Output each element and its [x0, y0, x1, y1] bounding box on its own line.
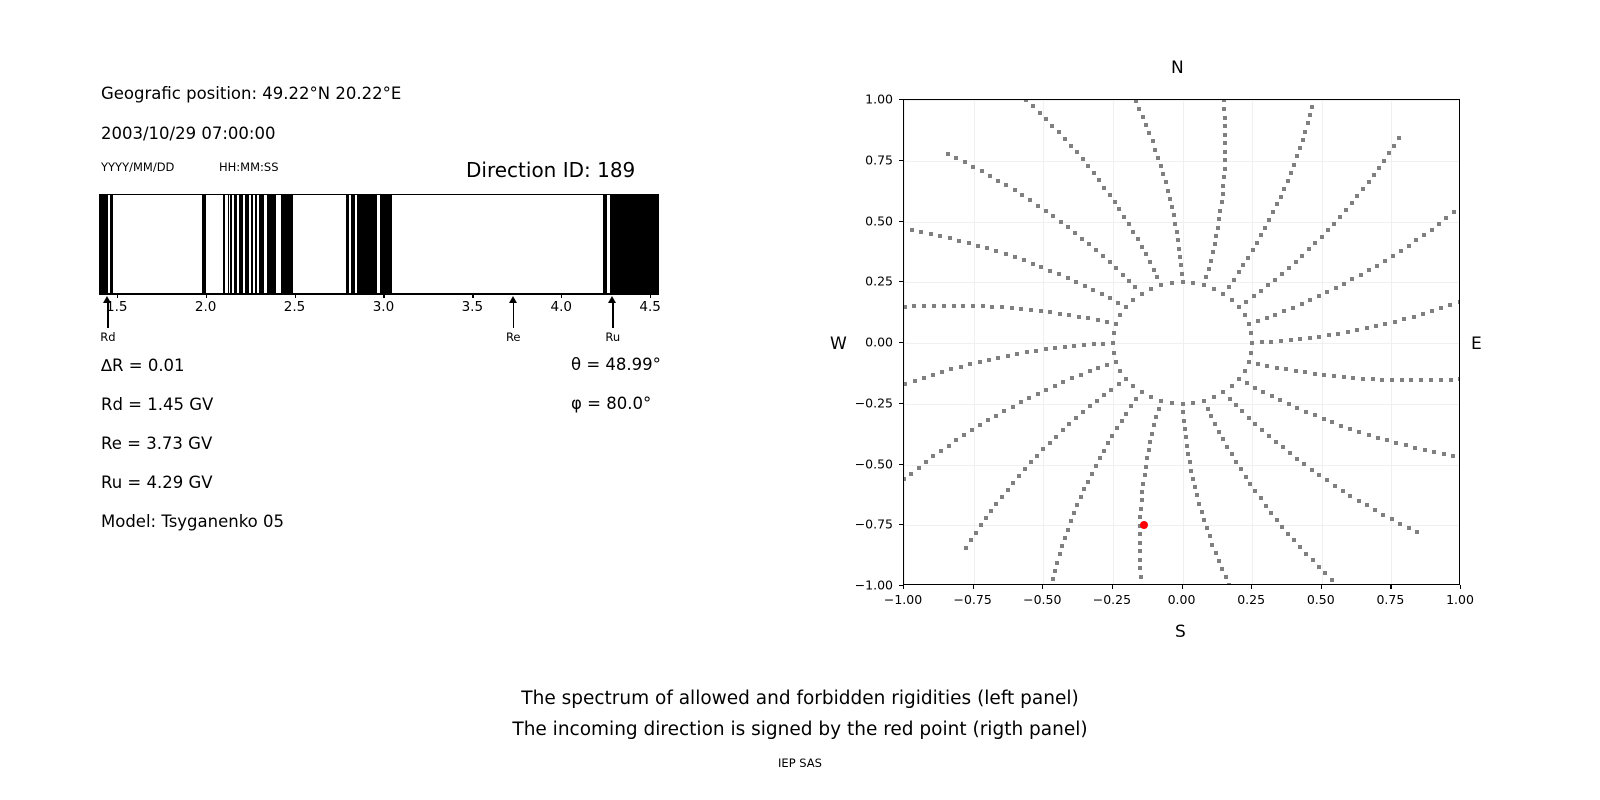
direction-point	[1117, 207, 1121, 211]
direction-point	[1334, 286, 1338, 290]
x-axis-tick	[1251, 585, 1252, 589]
direction-point	[1367, 180, 1371, 184]
direction-point	[1452, 210, 1456, 214]
direction-point	[1223, 158, 1227, 162]
direction-point	[1292, 163, 1296, 167]
direction-point	[1000, 495, 1004, 499]
direction-point	[1281, 445, 1285, 449]
direction-point	[1151, 139, 1155, 143]
direction-point	[1252, 294, 1256, 298]
direction-point	[1332, 374, 1336, 378]
direction-point	[1325, 478, 1329, 482]
direction-point	[978, 360, 982, 364]
direction-point	[1307, 247, 1311, 251]
direction-scatter-plot	[903, 99, 1460, 585]
direction-point	[1096, 318, 1100, 322]
direction-point	[1060, 544, 1064, 548]
direction-point	[903, 305, 907, 309]
direction-point	[1069, 144, 1073, 148]
direction-point	[1114, 360, 1118, 364]
direction-point	[1205, 526, 1209, 530]
param-rd: Rd = 1.45 GV	[101, 395, 213, 414]
forbidden-band	[223, 195, 225, 293]
direction-point	[1330, 578, 1334, 582]
direction-point	[1137, 107, 1141, 111]
param-phi: φ = 80.0°	[571, 394, 651, 413]
direction-point	[1259, 233, 1263, 237]
direction-point	[1273, 313, 1277, 317]
direction-point	[1390, 517, 1394, 521]
direction-point	[1136, 237, 1140, 241]
direction-point	[1181, 402, 1185, 406]
direction-point	[1044, 388, 1048, 392]
direction-point	[1451, 454, 1455, 458]
direction-point	[1058, 312, 1062, 316]
x-axis-tick	[1390, 585, 1391, 589]
direction-point	[1448, 303, 1452, 307]
direction-point	[1075, 150, 1079, 154]
rigidity-tick-label: 4.0	[550, 299, 571, 315]
direction-point	[1325, 290, 1329, 294]
direction-point	[1224, 575, 1228, 579]
direction-point	[1282, 309, 1286, 313]
direction-point	[1275, 518, 1279, 522]
direction-point	[1287, 266, 1291, 270]
marker-label-ru: Ru	[605, 330, 620, 344]
direction-point	[1209, 259, 1213, 263]
direction-point	[1247, 360, 1251, 364]
direction-point	[1380, 378, 1384, 382]
direction-point	[1166, 189, 1170, 193]
direction-point	[1308, 113, 1312, 117]
direction-point	[1227, 583, 1231, 585]
direction-point	[1322, 417, 1326, 421]
direction-point	[1414, 238, 1418, 242]
direction-point	[1317, 335, 1321, 339]
rigidity-tick-label: 2.0	[195, 299, 216, 315]
x-axis-tick	[1460, 585, 1461, 589]
x-axis-tick-label: −0.50	[1023, 592, 1061, 607]
direction-point	[1112, 351, 1116, 355]
direction-point	[1152, 423, 1156, 427]
direction-point	[1138, 532, 1142, 536]
direction-point	[1304, 552, 1308, 556]
rigidity-tick	[650, 294, 651, 298]
direction-point	[1184, 435, 1188, 439]
y-axis-tick-label: 0.50	[845, 213, 893, 228]
direction-point	[946, 152, 950, 156]
gridline-horizontal	[904, 161, 1459, 162]
direction-point	[969, 538, 973, 542]
direction-point	[1357, 430, 1361, 434]
rigidity-axis: 1.52.02.53.03.54.04.5RdReRu	[99, 294, 659, 304]
direction-point	[1237, 270, 1241, 274]
direction-point	[1140, 292, 1144, 296]
direction-point	[1295, 457, 1299, 461]
direction-point	[1220, 200, 1224, 204]
direction-point	[1367, 268, 1371, 272]
rigidity-tick-label: 4.5	[639, 299, 660, 315]
direction-point	[1124, 305, 1128, 309]
direction-point	[1310, 468, 1314, 472]
direction-point	[1217, 430, 1221, 434]
direction-point	[1449, 378, 1453, 382]
direction-point	[1141, 115, 1145, 119]
y-axis-tick-label: −0.50	[845, 456, 893, 471]
x-axis-tick-label: 0.75	[1376, 592, 1404, 607]
direction-point	[1081, 410, 1085, 414]
direction-point	[1102, 186, 1106, 190]
direction-point	[952, 304, 956, 308]
y-axis-tick	[899, 342, 903, 343]
direction-point	[1080, 237, 1084, 241]
direction-point	[1243, 313, 1247, 317]
direction-point	[990, 305, 994, 309]
direction-point	[1419, 378, 1423, 382]
gridline-horizontal	[904, 465, 1459, 466]
y-axis-tick-label: −0.25	[845, 395, 893, 410]
direction-point	[1111, 341, 1115, 345]
direction-id-label: Direction ID: 189	[466, 158, 635, 182]
forbidden-band	[234, 195, 237, 293]
direction-point	[1350, 201, 1354, 205]
direction-point	[1019, 307, 1023, 311]
direction-point	[1391, 254, 1395, 258]
direction-point	[986, 418, 990, 422]
direction-point	[1070, 376, 1074, 380]
direction-point	[1108, 260, 1112, 264]
direction-point	[1350, 277, 1354, 281]
direction-point	[1039, 309, 1043, 313]
direction-point	[1152, 268, 1156, 272]
direction-point	[922, 304, 926, 308]
forbidden-band	[251, 195, 253, 293]
direction-point	[1357, 499, 1361, 503]
direction-point	[1147, 448, 1151, 452]
forbidden-band	[603, 195, 607, 293]
direction-point	[980, 169, 984, 173]
direction-point	[1239, 467, 1243, 471]
direction-point	[1320, 235, 1324, 239]
direction-point	[1147, 131, 1151, 135]
gridline-vertical	[1043, 100, 1044, 584]
direction-point	[1074, 280, 1078, 284]
direction-point	[1193, 485, 1197, 489]
direction-point	[1259, 289, 1263, 293]
direction-point	[1106, 441, 1110, 445]
direction-point	[1269, 340, 1273, 344]
direction-point	[988, 174, 992, 178]
forbidden-band	[239, 195, 243, 293]
direction-point	[1175, 230, 1179, 234]
direction-point	[1006, 354, 1010, 358]
direction-point	[985, 246, 989, 250]
direction-point	[913, 379, 917, 383]
direction-point	[1216, 226, 1220, 230]
marker-label-re: Re	[506, 330, 521, 344]
direction-point	[1140, 245, 1144, 249]
direction-point	[1383, 259, 1387, 263]
direction-point	[1057, 272, 1061, 276]
direction-point	[1246, 256, 1250, 260]
direction-point	[1131, 384, 1135, 388]
rigidity-spectrum-bar	[99, 194, 659, 294]
direction-point	[1067, 313, 1071, 317]
direction-point	[994, 414, 998, 418]
direction-point	[1031, 262, 1035, 266]
direction-point	[1404, 443, 1408, 447]
direction-point	[1279, 339, 1283, 343]
direction-point	[1000, 305, 1004, 309]
direction-point	[1278, 398, 1282, 402]
direction-point	[1376, 436, 1380, 440]
rigidity-tick	[561, 294, 562, 298]
direction-point	[1180, 272, 1184, 276]
direction-point	[1197, 502, 1201, 506]
y-axis-tick-label: 0.75	[845, 152, 893, 167]
rigidity-tick	[472, 294, 473, 298]
direction-point	[1295, 154, 1299, 158]
direction-point	[1333, 484, 1337, 488]
direction-point	[1381, 513, 1385, 517]
direction-point	[1108, 296, 1112, 300]
direction-point	[1183, 427, 1187, 431]
marker-arrow-ru	[606, 296, 620, 328]
direction-point	[964, 546, 968, 550]
x-axis-tick	[1112, 585, 1113, 589]
direction-point	[1213, 242, 1217, 246]
direction-point	[1304, 410, 1308, 414]
forbidden-band	[230, 195, 231, 293]
direction-point	[949, 367, 953, 371]
y-axis-tick	[899, 524, 903, 525]
direction-point	[1221, 192, 1225, 196]
y-axis-tick-label: −0.75	[845, 517, 893, 532]
y-axis-tick	[899, 403, 903, 404]
direction-point	[1327, 333, 1331, 337]
direction-point	[954, 156, 958, 160]
direction-point	[1061, 428, 1065, 432]
direction-point	[1377, 166, 1381, 170]
direction-point	[1409, 378, 1413, 382]
direction-point	[1122, 215, 1126, 219]
direction-point	[962, 433, 966, 437]
direction-point	[1298, 146, 1302, 150]
direction-point	[1023, 467, 1027, 471]
direction-point	[1279, 195, 1283, 199]
direction-point	[957, 239, 961, 243]
x-axis-tick	[903, 585, 904, 589]
direction-point	[978, 423, 982, 427]
direction-point	[1230, 384, 1234, 388]
direction-point	[1149, 395, 1153, 399]
direction-point	[1413, 446, 1417, 450]
direction-point	[1048, 441, 1052, 445]
direction-point	[1050, 124, 1054, 128]
direction-point	[1029, 460, 1033, 464]
direction-point	[1265, 316, 1269, 320]
time-format-hint: HH:MM:SS	[219, 160, 279, 174]
direction-point	[1075, 503, 1079, 507]
direction-point	[996, 356, 1000, 360]
direction-point	[1101, 254, 1105, 258]
x-axis-tick-label: 0.25	[1237, 592, 1265, 607]
direction-point	[1025, 350, 1029, 354]
direction-point	[1177, 247, 1181, 251]
direction-point	[1092, 171, 1096, 175]
direction-point	[1202, 283, 1206, 287]
direction-point	[1061, 380, 1065, 384]
direction-point	[1267, 434, 1271, 438]
direction-point	[931, 454, 935, 458]
direction-point	[1096, 366, 1100, 370]
direction-point	[932, 304, 936, 308]
direction-point	[1374, 324, 1378, 328]
direction-point	[1113, 200, 1117, 204]
direction-point	[1022, 258, 1026, 262]
direction-point	[1202, 518, 1206, 522]
direction-point	[1118, 369, 1122, 373]
direction-point	[1053, 346, 1057, 350]
direction-point	[1220, 567, 1224, 571]
direction-point	[1034, 349, 1038, 353]
direction-point	[1232, 278, 1236, 282]
direction-point	[1101, 342, 1105, 346]
forbidden-band	[245, 195, 249, 293]
direction-point	[1429, 378, 1433, 382]
direction-point	[1298, 545, 1302, 549]
direction-point	[1260, 340, 1264, 344]
direction-point	[1006, 488, 1010, 492]
direction-point	[1186, 452, 1190, 456]
direction-point	[1249, 331, 1253, 335]
selected-direction-point[interactable]	[1140, 521, 1148, 529]
direction-point	[1214, 551, 1218, 555]
direction-point	[1338, 215, 1342, 219]
direction-point	[1442, 452, 1446, 456]
direction-point	[1250, 341, 1254, 345]
direction-point	[1207, 267, 1211, 271]
direction-point	[1332, 222, 1336, 226]
direction-point	[1430, 228, 1434, 232]
direction-point	[1051, 577, 1055, 581]
direction-point	[1054, 435, 1058, 439]
direction-point	[1088, 369, 1092, 373]
direction-point	[1227, 285, 1231, 289]
direction-point	[1066, 225, 1070, 229]
direction-point	[1081, 157, 1085, 161]
y-axis-tick	[899, 160, 903, 161]
direction-point	[1346, 330, 1350, 334]
direction-point	[1251, 248, 1255, 252]
direction-point	[1011, 481, 1015, 485]
direction-point	[1110, 434, 1114, 438]
rigidity-tick-label: 3.5	[462, 299, 483, 315]
direction-point	[1161, 172, 1165, 176]
direction-point	[1330, 420, 1334, 424]
direction-point	[1221, 184, 1225, 188]
direction-point	[1342, 282, 1346, 286]
direction-point	[1313, 241, 1317, 245]
direction-point	[1189, 469, 1193, 473]
direction-point	[1202, 399, 1206, 403]
direction-point	[1182, 419, 1186, 423]
direction-point	[1072, 344, 1076, 348]
y-axis-tick-label: 0.25	[845, 274, 893, 289]
direction-point	[1157, 407, 1161, 411]
direction-point	[1348, 427, 1352, 431]
direction-point	[971, 304, 975, 308]
direction-point	[1143, 473, 1147, 477]
direction-point	[1371, 377, 1375, 381]
direction-point	[1144, 252, 1148, 256]
y-axis-tick	[899, 99, 903, 100]
gridline-vertical	[904, 100, 905, 584]
direction-point	[1156, 156, 1160, 160]
direction-point	[1225, 445, 1229, 449]
direction-point	[1138, 558, 1142, 562]
direction-point	[1114, 322, 1118, 326]
direction-point	[1286, 179, 1290, 183]
direction-point	[1124, 412, 1128, 416]
direction-point	[1263, 226, 1267, 230]
direction-point	[1217, 559, 1221, 563]
direction-point	[1245, 381, 1249, 385]
forbidden-band	[380, 195, 392, 293]
gridline-vertical	[1183, 100, 1184, 584]
direction-point	[959, 365, 963, 369]
compass-south-label: S	[1175, 622, 1186, 642]
direction-point	[1164, 180, 1168, 184]
direction-point	[1412, 315, 1416, 319]
direction-point	[1105, 320, 1109, 324]
direction-point	[1289, 338, 1293, 342]
direction-point	[1308, 336, 1312, 340]
direction-point	[1253, 489, 1257, 493]
direction-point	[1120, 419, 1124, 423]
direction-point	[1148, 260, 1152, 264]
direction-point	[1407, 244, 1411, 248]
direction-point	[1053, 384, 1057, 388]
direction-point	[1310, 105, 1314, 109]
direction-point	[1170, 205, 1174, 209]
direction-point	[1212, 287, 1216, 291]
direction-point	[1303, 130, 1307, 134]
direction-point	[1301, 138, 1305, 142]
direction-point	[1221, 292, 1225, 296]
gridline-vertical	[974, 100, 975, 584]
direction-point	[1221, 437, 1225, 441]
gridline-horizontal	[904, 343, 1459, 344]
direction-point	[1141, 482, 1145, 486]
direction-point	[903, 382, 907, 386]
direction-point	[1271, 210, 1275, 214]
direction-point	[1270, 394, 1274, 398]
direction-point	[1260, 428, 1264, 432]
param-re: Re = 3.73 GV	[101, 434, 212, 453]
direction-point	[1185, 444, 1189, 448]
direction-point	[1170, 401, 1174, 405]
direction-point	[1459, 205, 1460, 209]
forbidden-band	[346, 195, 349, 293]
direction-point	[1247, 416, 1251, 420]
direction-point	[1114, 266, 1118, 270]
direction-point	[1365, 326, 1369, 330]
direction-point	[1140, 498, 1144, 502]
marker-arrow-re	[506, 296, 520, 328]
direction-point	[1191, 477, 1195, 481]
direction-point	[1206, 407, 1210, 411]
